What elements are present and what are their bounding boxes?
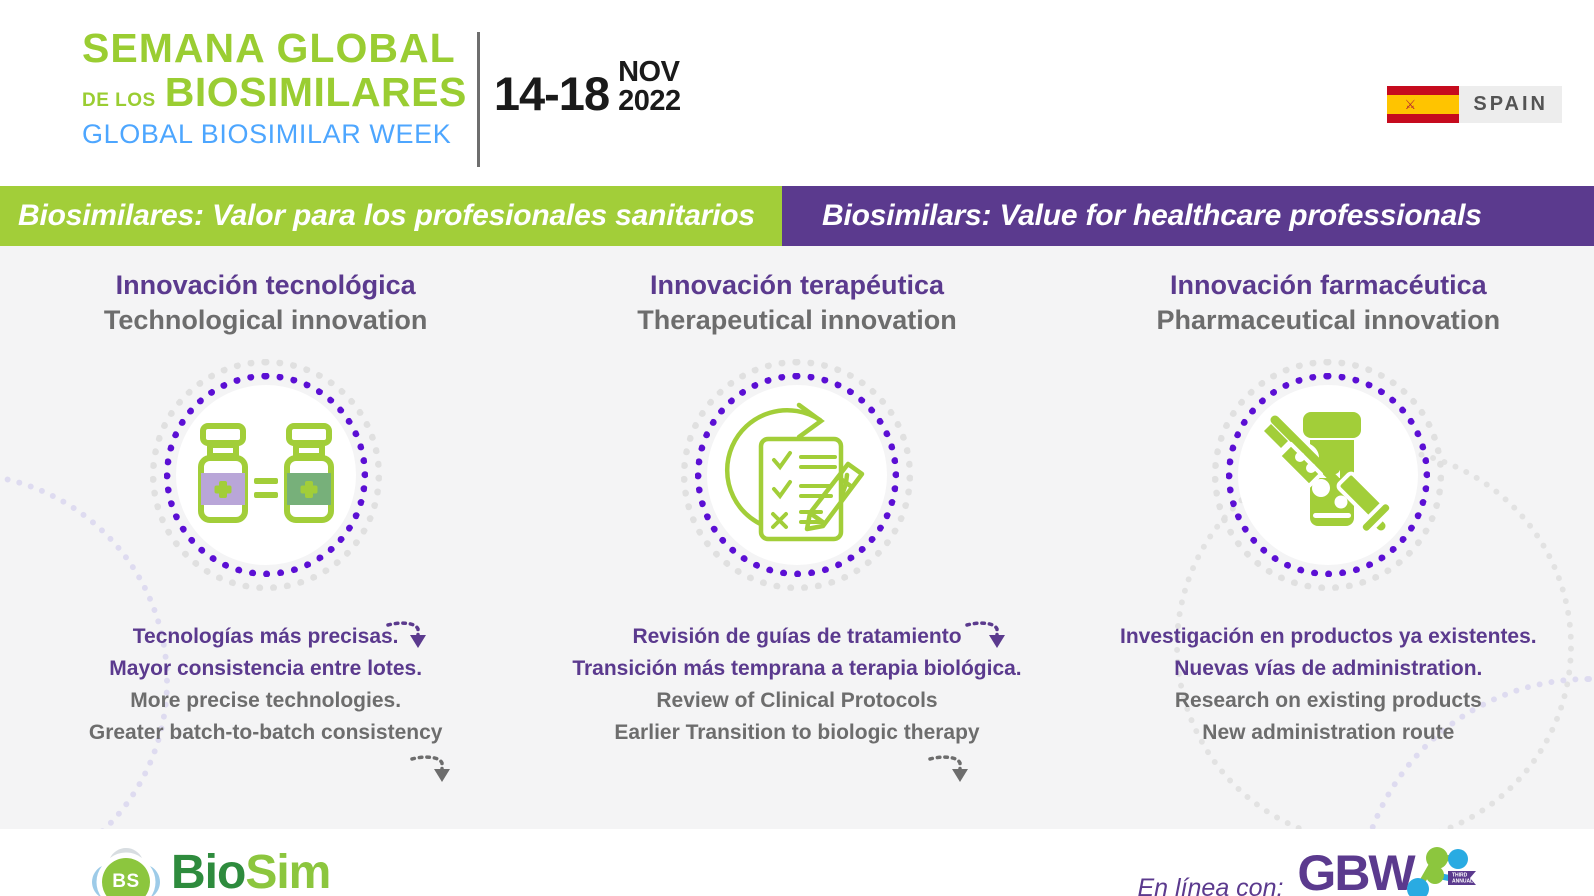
gbw-ribbon-line-2: ANNUAL bbox=[1452, 879, 1473, 885]
country-badge: ⚔ SPAIN bbox=[1387, 86, 1562, 123]
bullet-es-1: Revisión de guías de tratamiento bbox=[632, 625, 961, 648]
biosim-logo[interactable]: BS BioSim Asociación Española de Biosimi… bbox=[90, 846, 423, 896]
flag-yellow-band bbox=[1387, 95, 1459, 114]
country-label: SPAIN bbox=[1459, 86, 1562, 123]
gbw-letters: GBW bbox=[1297, 851, 1413, 896]
bullet-row: Review of Clinical Protocols bbox=[572, 685, 1021, 717]
campaign-line-3: GLOBAL BIOSIMILAR WEEK bbox=[82, 119, 467, 150]
page-footer: BS BioSim Asociación Española de Biosimi… bbox=[0, 829, 1594, 896]
event-month: NOV bbox=[618, 58, 681, 87]
bullet-row: Research on existing products bbox=[1120, 685, 1537, 717]
gbw-partner-block: En línea con: GBW bbox=[1137, 845, 1568, 896]
bullet-es-2: Nuevas vías de administration. bbox=[1174, 657, 1482, 680]
event-date: 14-18 NOV 2022 bbox=[494, 58, 681, 117]
campaign-line-1: SEMANA GLOBAL bbox=[82, 28, 467, 70]
event-month-year: NOV 2022 bbox=[618, 58, 681, 116]
bullet-en-2: Earlier Transition to biologic therapy bbox=[614, 721, 979, 744]
column-pharmaceutical-innovation: Innovación farmacéutica Pharmaceutical i… bbox=[1063, 246, 1594, 829]
column-heading-en: Therapeutical innovation bbox=[637, 303, 957, 338]
icon-disc bbox=[707, 385, 887, 565]
clipboard-checklist-pencil-icon bbox=[721, 399, 873, 551]
bullet-en-1: Research on existing products bbox=[1175, 689, 1482, 712]
bullet-en-2: New administration route bbox=[1202, 721, 1454, 744]
title-spanish-text: Biosimilares: Valor para los profesional… bbox=[18, 199, 755, 233]
campaign-line-2: DE LOS BIOSIMILARES bbox=[82, 72, 467, 114]
infographic-page: SEMANA GLOBAL DE LOS BIOSIMILARES GLOBAL… bbox=[0, 0, 1594, 896]
title-english-text: Biosimilars: Value for healthcare profes… bbox=[822, 199, 1482, 233]
column-bullets: Revisión de guías de tratamiento Transic… bbox=[572, 621, 1021, 749]
bullet-row: Greater batch-to-batch consistency bbox=[89, 717, 443, 749]
bullet-row: Nuevas vías de administration. bbox=[1120, 653, 1537, 685]
bullet-en-1: Review of Clinical Protocols bbox=[656, 689, 937, 712]
bullet-es-1: Tecnologías más precisas. bbox=[133, 625, 399, 648]
bullet-row: Revisión de guías de tratamiento bbox=[572, 621, 1021, 653]
dotted-arrow-icon bbox=[927, 749, 973, 791]
icon-badge bbox=[1212, 359, 1444, 591]
dotted-arrow-icon bbox=[409, 749, 455, 791]
bullet-es-2: Mayor consistencia entre lotes. bbox=[109, 657, 422, 680]
bullet-row: Mayor consistencia entre lotes. bbox=[89, 653, 443, 685]
gbw-molecule-icon: THIRD ANNUAL bbox=[1404, 845, 1478, 896]
title-bar-spanish: Biosimilares: Valor para los profesional… bbox=[0, 186, 782, 246]
bullet-row: New administration route bbox=[1120, 717, 1537, 749]
page-header: SEMANA GLOBAL DE LOS BIOSIMILARES GLOBAL… bbox=[0, 0, 1594, 186]
column-technological-innovation: Innovación tecnológica Technological inn… bbox=[0, 246, 531, 829]
columns-container: Innovación tecnológica Technological inn… bbox=[0, 246, 1594, 829]
gbw-logo-top: GBW THIRD bbox=[1297, 845, 1568, 896]
dotted-arrow-icon bbox=[964, 615, 1010, 657]
biosim-mark-icon: BS bbox=[90, 846, 162, 896]
icon-disc bbox=[176, 385, 356, 565]
bullet-es-2: Transición más temprana a terapia biológ… bbox=[572, 657, 1021, 680]
bullet-row: Transición más temprana a terapia biológ… bbox=[572, 653, 1021, 685]
column-heading-en: Pharmaceutical innovation bbox=[1157, 303, 1501, 338]
en-linea-label: En línea con: bbox=[1137, 874, 1283, 896]
bullet-en-1: More precise technologies. bbox=[130, 689, 401, 712]
column-heading-es: Innovación terapéutica bbox=[650, 268, 944, 303]
campaign-lockup: SEMANA GLOBAL DE LOS BIOSIMILARES GLOBAL… bbox=[82, 28, 681, 167]
spain-flag-icon: ⚔ bbox=[1387, 86, 1459, 123]
column-bullets: Tecnologías más precisas. Mayor consiste… bbox=[89, 621, 443, 749]
flag-coat-of-arms-icon: ⚔ bbox=[1403, 96, 1417, 114]
biosim-name: BioSim bbox=[171, 849, 423, 896]
two-vials-equals-icon bbox=[191, 420, 341, 530]
column-heading-es: Innovación farmacéutica bbox=[1170, 268, 1487, 303]
bullet-en-2: Greater batch-to-batch consistency bbox=[89, 721, 443, 744]
biosim-name-bio: Bio bbox=[171, 846, 245, 896]
bullet-row: More precise technologies. bbox=[89, 685, 443, 717]
title-bars: Biosimilares: Valor para los profesional… bbox=[0, 186, 1594, 246]
bullet-es-1: Investigación en productos ya existentes… bbox=[1120, 625, 1537, 648]
bullet-row: Earlier Transition to biologic therapy bbox=[572, 717, 1021, 749]
campaign-de-los: DE LOS bbox=[82, 91, 156, 110]
header-divider bbox=[477, 32, 480, 167]
icon-badge bbox=[681, 359, 913, 591]
biosim-wordmark: BioSim Asociación Española de Biosimilar… bbox=[171, 849, 423, 896]
biosim-name-sim: Sim bbox=[245, 846, 330, 896]
bullet-row: Tecnologías más precisas. bbox=[89, 621, 443, 653]
vial-syringe-icon bbox=[1253, 400, 1403, 550]
main-content: Innovación tecnológica Technological inn… bbox=[0, 246, 1594, 829]
column-therapeutic-innovation: Innovación terapéutica Therapeutical inn… bbox=[531, 246, 1062, 829]
column-bullets: Investigación en productos ya existentes… bbox=[1120, 621, 1537, 749]
event-days: 14-18 bbox=[494, 72, 609, 117]
title-bar-english: Biosimilars: Value for healthcare profes… bbox=[782, 186, 1594, 246]
icon-disc bbox=[1238, 385, 1418, 565]
campaign-wordmark: SEMANA GLOBAL DE LOS BIOSIMILARES GLOBAL… bbox=[82, 28, 467, 150]
event-year: 2022 bbox=[618, 87, 681, 116]
gbw-logo[interactable]: GBW THIRD bbox=[1297, 845, 1568, 896]
column-heading-es: Innovación tecnológica bbox=[116, 268, 416, 303]
icon-badge bbox=[150, 359, 382, 591]
column-heading-en: Technological innovation bbox=[104, 303, 428, 338]
campaign-biosimilares: BIOSIMILARES bbox=[165, 72, 467, 114]
bullet-row: Investigación en productos ya existentes… bbox=[1120, 621, 1537, 653]
